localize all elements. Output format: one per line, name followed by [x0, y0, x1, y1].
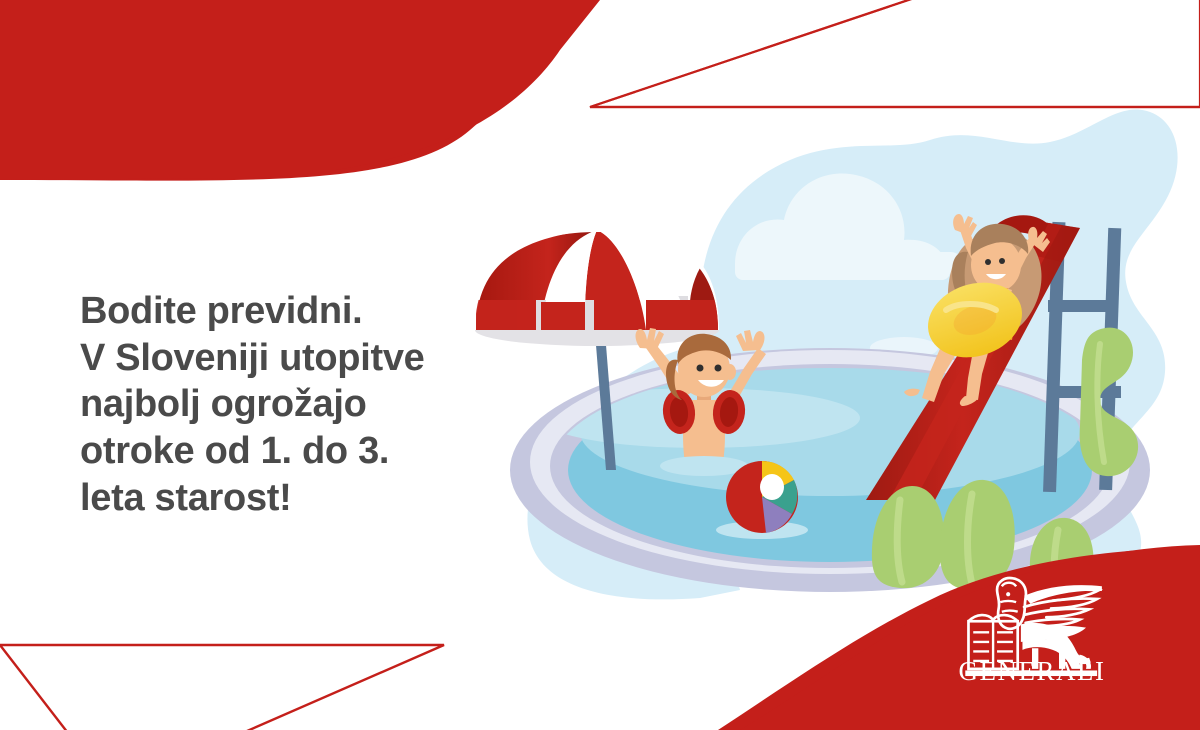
boy-eye-left	[697, 365, 704, 372]
generali-logo: GENERALI	[952, 572, 1112, 680]
girl-eye-right	[999, 258, 1005, 264]
ball-center-dot	[760, 474, 784, 500]
banner: Bodite previdni. V Sloveniji utopitve na…	[0, 0, 1200, 730]
red-curved-corner-shape-fill	[0, 0, 600, 180]
girl-eye-left	[985, 259, 991, 265]
boy-water-ripple	[660, 456, 748, 476]
brand-wordmark: GENERALI	[952, 656, 1112, 687]
boy-eye-right	[715, 365, 722, 372]
red-outline-triangle-top-path	[590, 0, 1200, 107]
boy-ear	[724, 364, 736, 380]
red-outline-triangle-bottom	[0, 645, 444, 730]
red-outline-triangle-top	[590, 0, 1200, 107]
